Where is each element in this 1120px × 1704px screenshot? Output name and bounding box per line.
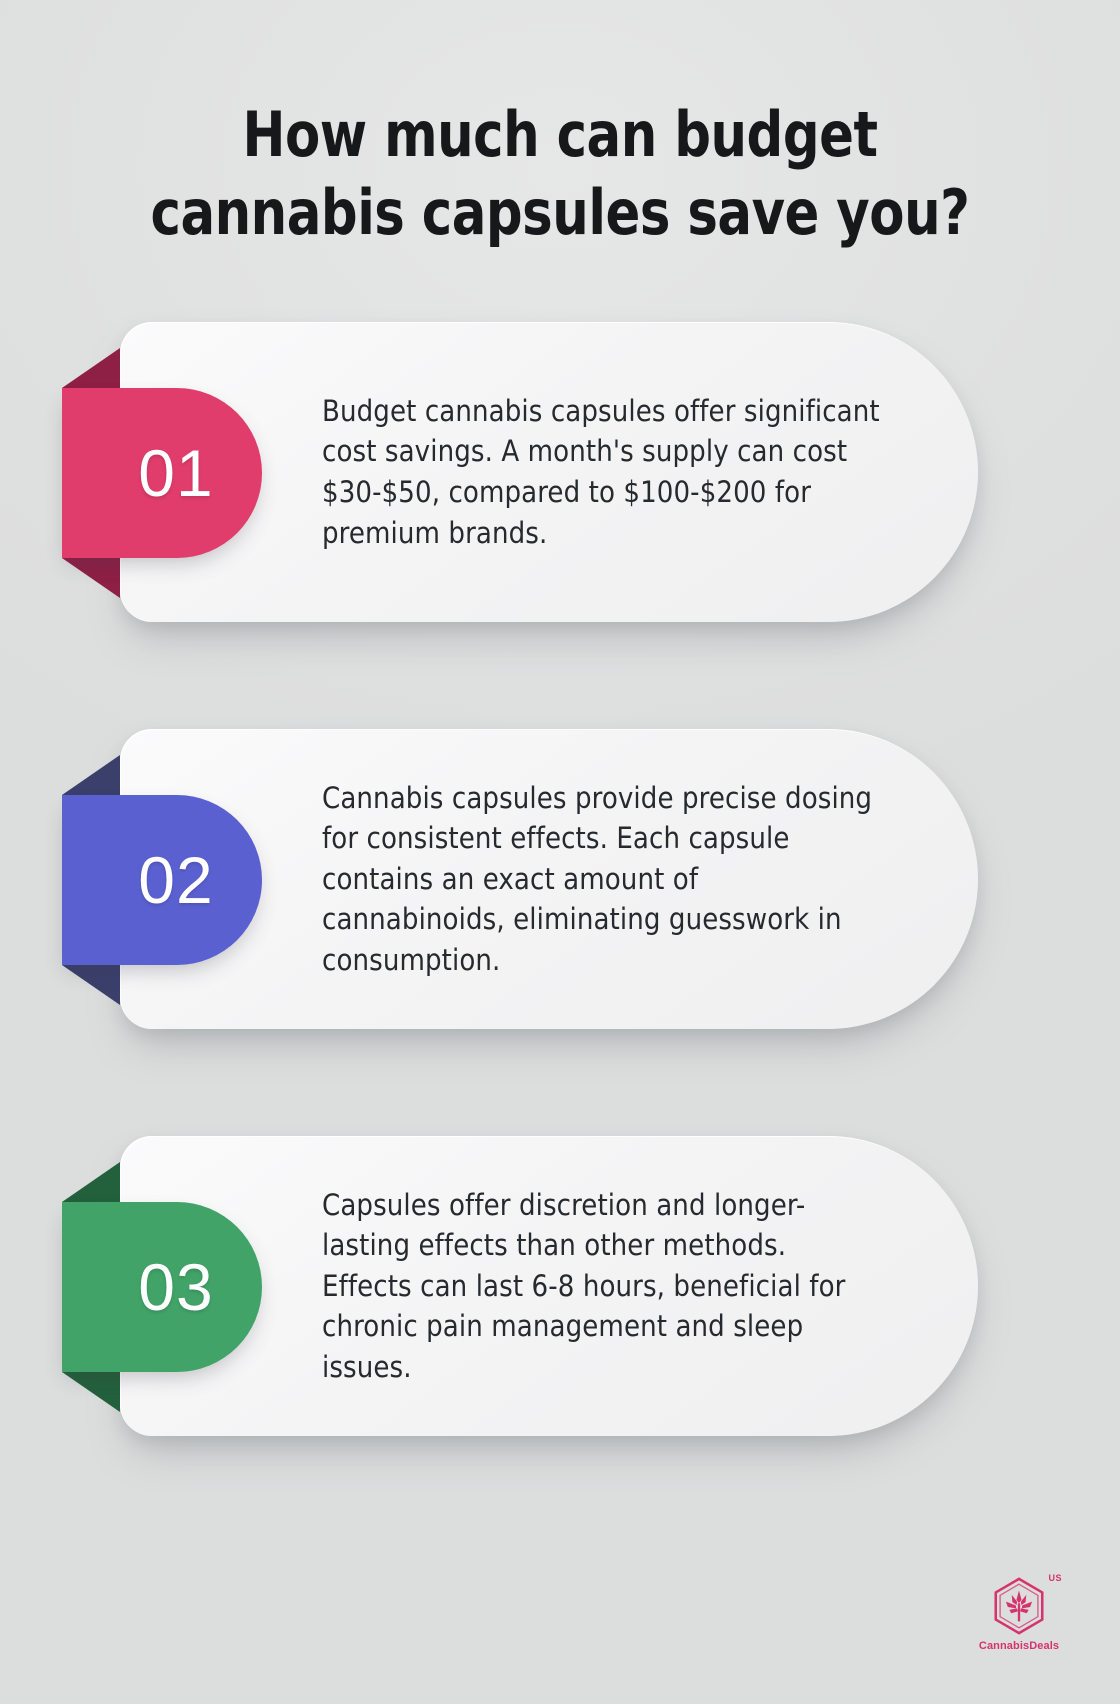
hexagon-cannabis-leaf-icon: US xyxy=(988,1575,1050,1637)
ribbon-fold-bottom-icon xyxy=(62,965,120,1005)
page-title: How much can budget cannabis capsules sa… xyxy=(118,96,1001,252)
card-list: 01 Budget cannabis capsules offer signif… xyxy=(0,322,1120,1543)
card-text-wrap: Budget cannabis capsules offer significa… xyxy=(322,322,882,622)
step-badge: 03 xyxy=(62,1202,262,1372)
logo-superscript: US xyxy=(1048,1573,1062,1583)
card-text-wrap: Capsules offer discretion and longer-las… xyxy=(322,1136,882,1436)
card-description: Capsules offer discretion and longer-las… xyxy=(322,1185,882,1388)
ribbon-fold-bottom-icon xyxy=(62,558,120,598)
ribbon-fold-bottom-icon xyxy=(62,1372,120,1412)
ribbon-fold-top-icon xyxy=(62,1162,120,1202)
step-number: 01 xyxy=(138,440,213,506)
list-item: 01 Budget cannabis capsules offer signif… xyxy=(0,322,1120,677)
card-description: Budget cannabis capsules offer significa… xyxy=(322,391,882,553)
brand-logo: US CannabisDeals xyxy=(970,1575,1068,1652)
ribbon-fold-top-icon xyxy=(62,348,120,388)
card-text-wrap: Cannabis capsules provide precise dosing… xyxy=(322,729,882,1029)
card-description: Cannabis capsules provide precise dosing… xyxy=(322,778,882,981)
step-badge: 01 xyxy=(62,388,262,558)
logo-wordmark: CannabisDeals xyxy=(970,1640,1068,1652)
step-number: 02 xyxy=(138,847,213,913)
infographic-page: How much can budget cannabis capsules sa… xyxy=(0,0,1120,1704)
step-badge: 02 xyxy=(62,795,262,965)
page-title-wrap: How much can budget cannabis capsules sa… xyxy=(0,96,1120,252)
list-item: 03 Capsules offer discretion and longer-… xyxy=(0,1136,1120,1491)
list-item: 02 Cannabis capsules provide precise dos… xyxy=(0,729,1120,1084)
step-number: 03 xyxy=(138,1254,213,1320)
ribbon-fold-top-icon xyxy=(62,755,120,795)
